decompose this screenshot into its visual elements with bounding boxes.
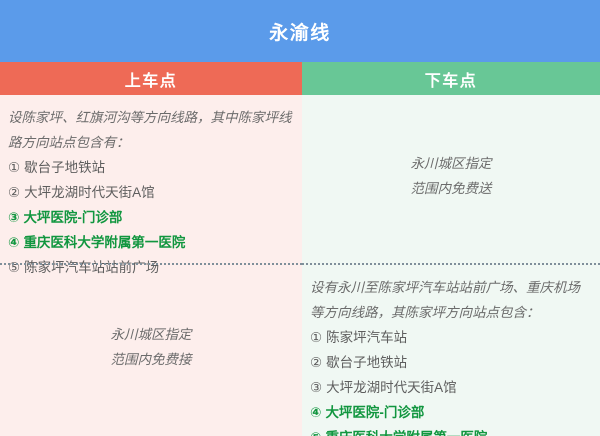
pickup-note-line-1: 永川城区指定	[111, 322, 192, 347]
pickup-note-line-2: 范围内免费接	[111, 347, 192, 372]
list-item: ①陈家坪汽车站	[310, 325, 592, 350]
stop-name: 重庆医科大学附属第一医院	[325, 430, 487, 436]
pickup-description-line-1: 设陈家坪、红旗河沟等方向线路，其中陈家坪线	[8, 105, 294, 130]
page-title: 永渝线	[269, 18, 331, 45]
list-item: ②大坪龙湖时代天街A馆	[8, 180, 294, 205]
dropoff-note-line-1: 永川城区指定	[411, 151, 492, 176]
stop-name: 大坪医院-门诊部	[325, 405, 424, 420]
column-pickup: 设陈家坪、红旗河沟等方向线路，其中陈家坪线 路方向站点包含有： ①歇台子地铁站 …	[0, 95, 302, 436]
pickup-description-line-2: 路方向站点包含有：	[8, 130, 294, 155]
route-title-bar: 永渝线	[0, 0, 600, 62]
stop-number: ③	[310, 380, 322, 395]
stop-name: 歇台子地铁站	[24, 160, 105, 175]
stop-number: ⑤	[310, 430, 321, 436]
list-item: ②歇台子地铁站	[310, 350, 592, 375]
stop-number: ④	[310, 405, 321, 420]
dropoff-description-line-2: 等方向线路，其陈家坪方向站点包含：	[310, 300, 592, 325]
cell-dropoff-yongchuan-note: 永川城区指定 范围内免费送	[302, 95, 600, 265]
cell-pickup-yongchuan-note: 永川城区指定 范围内免费接	[0, 265, 302, 436]
stop-number: ②	[310, 355, 322, 370]
column-header-dropoff: 下车点	[302, 62, 600, 95]
stop-number: ①	[310, 330, 322, 345]
list-item-highlighted: ④大坪医院-门诊部	[310, 400, 592, 425]
table-body: 设陈家坪、红旗河沟等方向线路，其中陈家坪线 路方向站点包含有： ①歇台子地铁站 …	[0, 95, 600, 436]
stop-name: 陈家坪汽车站	[326, 330, 407, 345]
stop-number: ②	[8, 185, 20, 200]
cell-pickup-chenjiaping: 设陈家坪、红旗河沟等方向线路，其中陈家坪线 路方向站点包含有： ①歇台子地铁站 …	[0, 95, 302, 265]
column-header-pickup: 上车点	[0, 62, 302, 95]
stop-name: 大坪龙湖时代天街A馆	[24, 185, 155, 200]
stop-name: 大坪医院-门诊部	[23, 210, 122, 225]
column-header-pickup-label: 上车点	[125, 67, 178, 91]
column-header-row: 上车点 下车点	[0, 62, 600, 95]
dropoff-note-line-2: 范围内免费送	[411, 176, 492, 201]
list-item-highlighted: ③大坪医院-门诊部	[8, 205, 294, 230]
column-dropoff: 永川城区指定 范围内免费送 设有永川至陈家坪汽车站站前广场、重庆机场 等方向线路…	[302, 95, 600, 436]
stop-name: 歇台子地铁站	[326, 355, 407, 370]
list-item: ③大坪龙湖时代天街A馆	[310, 375, 592, 400]
stop-number: ①	[8, 160, 20, 175]
list-item-highlighted: ④重庆医科大学附属第一医院	[8, 230, 294, 255]
dropoff-description-line-1: 设有永川至陈家坪汽车站站前广场、重庆机场	[310, 275, 592, 300]
route-info-table: 永渝线 上车点 下车点 设陈家坪、红旗河沟等方向线路，其中陈家坪线 路方向站点包…	[0, 0, 600, 436]
stop-name: 大坪龙湖时代天街A馆	[326, 380, 457, 395]
list-item: ①歇台子地铁站	[8, 155, 294, 180]
column-header-dropoff-label: 下车点	[425, 67, 478, 91]
cell-dropoff-chenjiaping: 设有永川至陈家坪汽车站站前广场、重庆机场 等方向线路，其陈家坪方向站点包含： ①…	[302, 265, 600, 436]
stop-number: ④	[8, 235, 19, 250]
list-item-highlighted: ⑤重庆医科大学附属第一医院	[310, 425, 592, 436]
stop-name: 重庆医科大学附属第一医院	[23, 235, 185, 250]
stop-number: ③	[8, 210, 19, 225]
